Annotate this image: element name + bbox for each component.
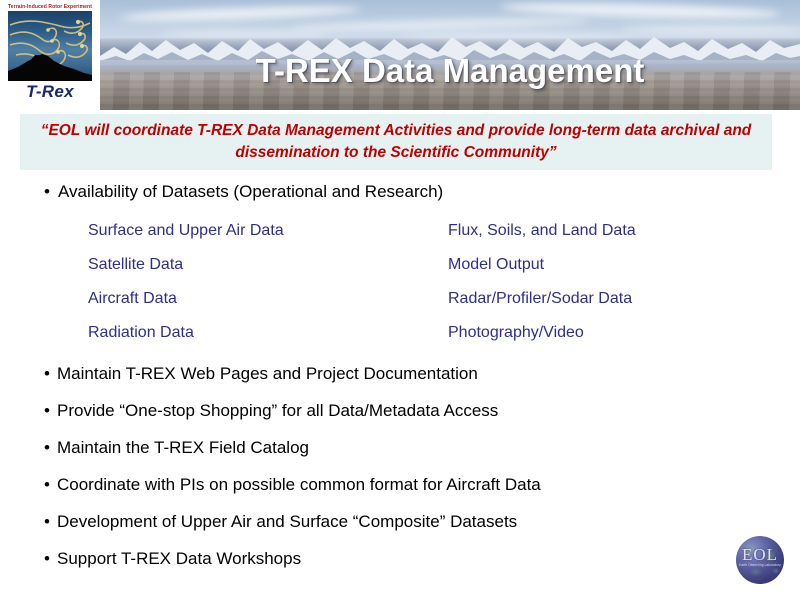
bullet-marker-icon: • xyxy=(44,182,58,202)
list-item-label: Maintain T-REX Web Pages and Project Doc… xyxy=(57,364,478,383)
list-item: •Coordinate with PIs on possible common … xyxy=(44,474,764,511)
dataset-row: Radiation Data Photography/Video xyxy=(88,324,708,358)
lead-bullet-label: Availability of Datasets (Operational an… xyxy=(58,182,443,201)
eol-logo-wordmark: EOL xyxy=(736,545,784,565)
trex-logo-tagline: Terrain-Induced Rotor Experiment xyxy=(8,3,92,11)
page-title: T-REX Data Management xyxy=(100,52,800,90)
trex-logo-image: Terrain-Induced Rotor Experiment xyxy=(8,3,92,81)
list-item-label: Coordinate with PIs on possible common f… xyxy=(57,475,541,494)
list-item: •Provide “One-stop Shopping” for all Dat… xyxy=(44,400,764,437)
lead-bullet-item: •Availability of Datasets (Operational a… xyxy=(44,182,443,202)
dataset-row: Aircraft Data Radar/Profiler/Sodar Data xyxy=(88,290,708,324)
bullet-marker-icon: • xyxy=(44,474,57,496)
list-item-label: Development of Upper Air and Surface “Co… xyxy=(57,512,517,531)
list-item-label: Maintain the T-REX Field Catalog xyxy=(57,438,309,457)
dataset-row: Satellite Data Model Output xyxy=(88,256,708,290)
mission-quote-text: “EOL will coordinate T-REX Data Manageme… xyxy=(36,120,756,164)
eol-logo-subtitle: Earth Observing Laboratory xyxy=(736,563,784,567)
list-item: •Support T-REX Data Workshops xyxy=(44,548,764,585)
dataset-item: Surface and Upper Air Data xyxy=(88,222,448,240)
dataset-item: Radar/Profiler/Sodar Data xyxy=(448,290,708,308)
dataset-item: Flux, Soils, and Land Data xyxy=(448,222,708,240)
dataset-item: Radiation Data xyxy=(88,324,448,342)
list-item: •Maintain T-REX Web Pages and Project Do… xyxy=(44,363,764,400)
activities-bullet-list: •Maintain T-REX Web Pages and Project Do… xyxy=(44,363,764,585)
list-item-label: Support T-REX Data Workshops xyxy=(57,549,301,568)
list-item: •Development of Upper Air and Surface “C… xyxy=(44,511,764,548)
bullet-marker-icon: • xyxy=(44,363,57,385)
bullet-marker-icon: • xyxy=(44,548,57,570)
bullet-marker-icon: • xyxy=(44,511,57,533)
eol-logo: EOL Earth Observing Laboratory xyxy=(736,536,784,584)
dataset-item: Photography/Video xyxy=(448,324,708,342)
trex-logo-wordmark: T-Rex xyxy=(0,82,100,102)
bullet-marker-icon: • xyxy=(44,437,57,459)
mission-quote-box: “EOL will coordinate T-REX Data Manageme… xyxy=(20,114,772,170)
dataset-item: Satellite Data xyxy=(88,256,448,274)
dataset-item: Model Output xyxy=(448,256,708,274)
dataset-item: Aircraft Data xyxy=(88,290,448,308)
list-item-label: Provide “One-stop Shopping” for all Data… xyxy=(57,401,498,420)
trex-logo: Terrain-Induced Rotor Experiment xyxy=(0,0,100,110)
list-item: •Maintain the T-REX Field Catalog xyxy=(44,437,764,474)
bullet-marker-icon: • xyxy=(44,400,57,422)
dataset-category-grid: Surface and Upper Air Data Flux, Soils, … xyxy=(88,222,708,358)
dataset-row: Surface and Upper Air Data Flux, Soils, … xyxy=(88,222,708,256)
slide-header: Terrain-Induced Rotor Experiment xyxy=(0,0,800,110)
cloud-wisp-icon xyxy=(120,4,360,23)
rotor-streamlines-icon xyxy=(8,11,92,81)
